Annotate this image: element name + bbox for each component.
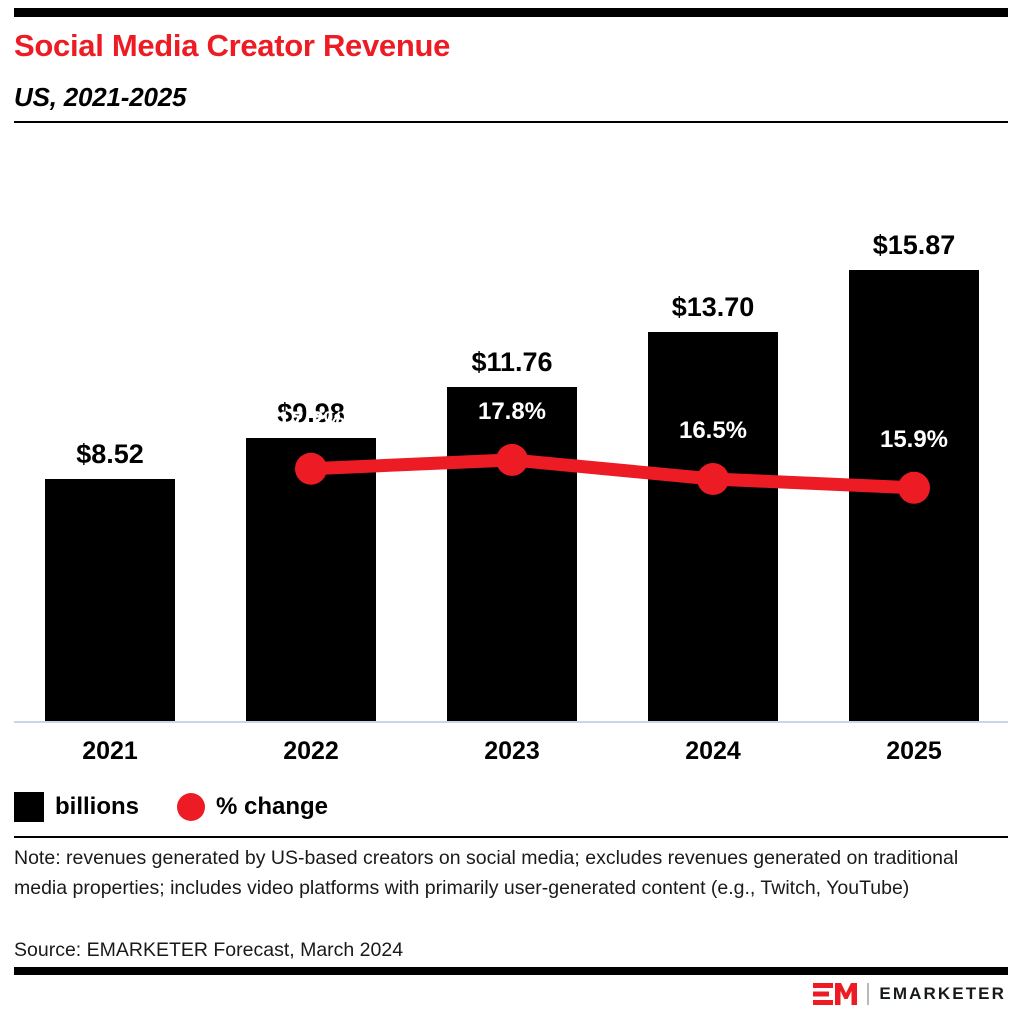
legend-divider-rule [14, 836, 1008, 838]
emarketer-logo: EMARKETER [813, 982, 1006, 1006]
bar-value-label-2023: $11.76 [412, 347, 612, 378]
source-text: Source: EMARKETER Forecast, March 2024 [14, 936, 403, 964]
percent-change-label-2023: 17.8% [412, 398, 612, 426]
bar-2022 [246, 438, 376, 721]
x-axis-label-2024: 2024 [613, 737, 813, 766]
bar-2021 [45, 479, 175, 721]
bar-value-label-2022: $9.98 [211, 398, 411, 429]
x-axis-label-2023: 2023 [412, 737, 612, 766]
x-axis-line [14, 721, 1008, 723]
bar-value-label-2024: $13.70 [613, 292, 813, 323]
percent-change-marker-2023 [496, 444, 528, 476]
bar-2023 [447, 387, 577, 721]
top-divider-rule [14, 8, 1008, 17]
legend-square-icon [14, 792, 44, 822]
percent-change-marker-2024 [697, 463, 729, 495]
logo-divider [867, 983, 869, 1005]
chart-legend: billions % change [14, 792, 328, 822]
page-title: Social Media Creator Revenue [14, 28, 450, 64]
chart-page: Social Media Creator Revenue US, 2021-20… [0, 0, 1020, 1016]
bar-value-label-2021: $8.52 [10, 439, 210, 470]
bar-value-label-2025: $15.87 [814, 230, 1014, 261]
percent-change-marker-2025 [898, 472, 930, 504]
x-axis-label-2025: 2025 [814, 737, 1014, 766]
legend-circle-icon [177, 793, 205, 821]
legend-label-billions: billions [55, 793, 139, 821]
page-subtitle: US, 2021-2025 [14, 82, 186, 113]
percent-change-label-2025: 15.9% [814, 426, 1014, 454]
bottom-divider-rule [14, 967, 1008, 975]
x-axis-label-2021: 2021 [10, 737, 210, 766]
percent-change-label-2024: 16.5% [613, 417, 813, 445]
em-monogram-icon [813, 982, 857, 1006]
legend-label-percent-change: % change [216, 793, 328, 821]
x-axis-label-2022: 2022 [211, 737, 411, 766]
footnote-text: Note: revenues generated by US-based cre… [14, 843, 1006, 903]
header-divider-rule [14, 121, 1008, 123]
percent-change-marker-2022 [295, 453, 327, 485]
percent-change-label-2022: 17.2% [211, 407, 411, 435]
percent-change-line [311, 460, 914, 488]
legend-item-billions: billions [14, 792, 139, 822]
logo-wordmark: EMARKETER [879, 984, 1006, 1004]
bar-2025 [849, 270, 979, 721]
bar-2024 [648, 332, 778, 721]
legend-item-percent-change: % change [177, 793, 328, 821]
